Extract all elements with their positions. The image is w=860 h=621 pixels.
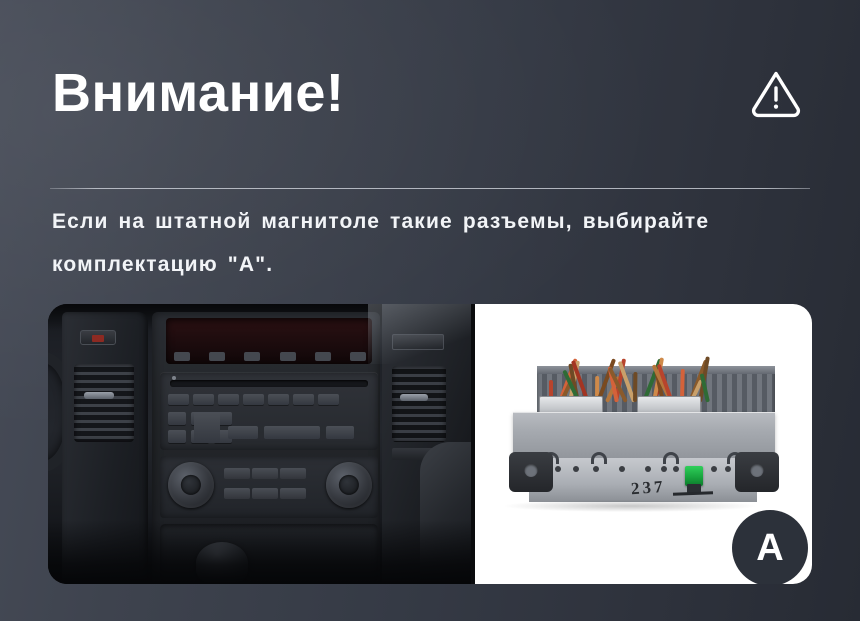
page-title: Внимание! [52, 66, 344, 120]
radio-button-ent [228, 426, 258, 439]
air-vent-left-knob [84, 392, 114, 399]
radio-button-large [194, 412, 220, 443]
mounting-ear-right [735, 452, 779, 492]
air-vent-left [74, 364, 134, 442]
climate-knob-left [168, 462, 214, 508]
divider [50, 188, 810, 189]
radio-button-row-1 [168, 394, 339, 405]
air-vent-right-knob [400, 394, 428, 401]
climate-button-grid [224, 468, 320, 508]
chassis-slot-3 [663, 452, 679, 464]
chassis-slot-2 [591, 452, 607, 464]
mounting-ear-left [509, 452, 553, 492]
notice-text: Если на штатной магнитоле такие разъемы,… [52, 200, 814, 286]
handwritten-marking: 237 [630, 477, 666, 499]
cd-slot-led [172, 376, 176, 380]
cd-slot [170, 380, 368, 387]
radio-unit: 237 [513, 366, 775, 502]
media-card: 237 A [48, 304, 812, 584]
variant-badge: A [732, 510, 808, 584]
radio-button-disc-menu [264, 426, 320, 439]
header: Внимание! [52, 56, 808, 130]
green-connector [685, 466, 703, 486]
display-button-row [174, 352, 366, 362]
variant-badge-label: A [756, 529, 783, 567]
warning-triangle-icon [750, 67, 802, 119]
windshield-glare [368, 304, 471, 364]
hazard-button [80, 330, 116, 345]
dashboard-lower-shadow [48, 520, 471, 584]
chassis-holes [533, 466, 753, 474]
unit-shadow [505, 500, 755, 512]
climate-knob-right [326, 462, 372, 508]
radio-button-text [326, 426, 354, 439]
air-vent-right [392, 366, 446, 442]
dashboard-photo [48, 304, 471, 584]
radio-unit-photo: 237 A [475, 304, 812, 584]
wire-harness [543, 354, 713, 402]
warning-slide: Внимание! Если на штатной магнитоле таки… [0, 0, 860, 621]
